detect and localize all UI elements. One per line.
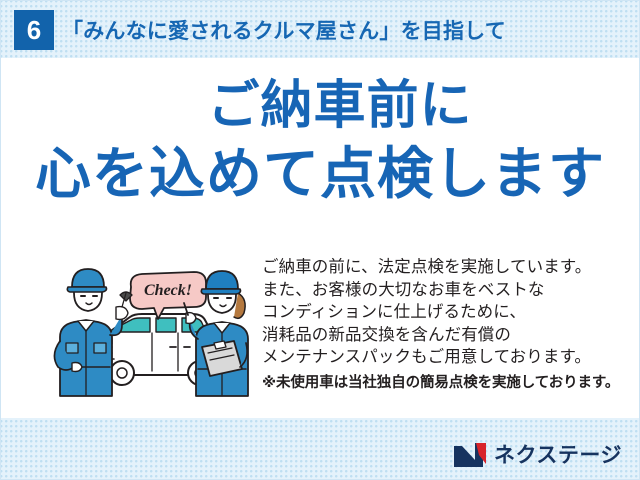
body-line: ご納車の前に、法定点検を実施しています。	[262, 256, 634, 279]
body-note: ※未使用車は当社独自の簡易点検を実施しております。	[262, 372, 634, 394]
brand-name: ネクステージ	[494, 445, 622, 466]
headline: ご納車前に 心を込めて点検します	[0, 80, 640, 202]
body-line: メンテナンスパックもご用意しております。	[262, 346, 634, 369]
mechanics-illustration: Check!	[52, 263, 257, 398]
section-number: 6	[27, 17, 41, 43]
section-number-badge: 6	[14, 10, 54, 50]
brand-logo: ネクステージ	[453, 442, 622, 468]
body-copy: ご納車の前に、法定点検を実施しています。 また、お客様の大切なお車をベストな コ…	[262, 256, 634, 394]
header-title: 「みんなに愛されるクルマ屋さん」を目指して	[62, 15, 506, 45]
body-line: また、お客様の大切なお車をベストな	[262, 279, 634, 302]
nexstage-n-logo-icon	[453, 442, 487, 468]
header: 6 「みんなに愛されるクルマ屋さん」を目指して	[0, 0, 640, 58]
advertisement-page: 6 「みんなに愛されるクルマ屋さん」を目指して ご納車前に 心を込めて点検します…	[0, 0, 640, 480]
body-line: 消耗品の新品交換を含んだ有償の	[262, 324, 634, 347]
headline-line-1: ご納車前に	[0, 80, 640, 132]
content-panel: ご納車前に 心を込めて点検します ご納車の前に、法定点検を実施しています。 また…	[0, 58, 640, 418]
body-line: コンディションに仕上げるために、	[262, 301, 634, 324]
speech-bubble-label: Check!	[144, 282, 192, 299]
headline-line-2: 心を込めて点検します	[0, 146, 640, 202]
